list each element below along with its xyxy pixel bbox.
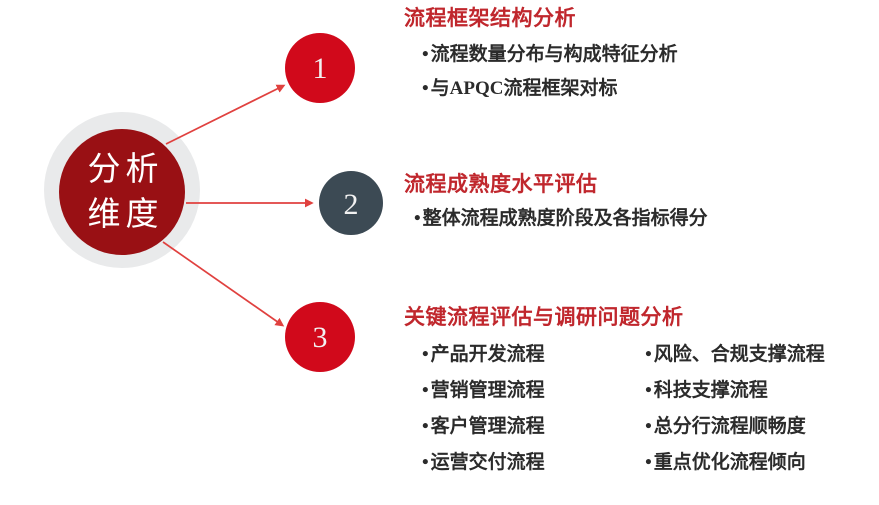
list-item: 风险、合规支撑流程 [645,337,874,373]
section-3: 关键流程评估与调研问题分析 产品开发流程 营销管理流程 客户管理流程 运营交付流… [404,303,874,481]
section-1-title: 流程框架结构分析 [404,4,874,32]
section-2-title: 流程成熟度水平评估 [404,170,874,198]
section-1-bullets: 流程数量分布与构成特征分析 与APQC流程框架对标 [422,38,874,106]
hub-circle[interactable] [59,129,185,255]
list-item: 科技支撑流程 [645,373,874,409]
section-2: 流程成熟度水平评估 整体流程成熟度阶段及各指标得分 [404,170,874,236]
node-circle-2[interactable] [319,171,383,235]
section-3-bullets-left: 产品开发流程 营销管理流程 客户管理流程 运营交付流程 [422,337,645,481]
list-item: 总分行流程顺畅度 [645,409,874,445]
list-item: 运营交付流程 [422,445,645,481]
section-2-bullets: 整体流程成熟度阶段及各指标得分 [414,202,874,236]
list-item: 整体流程成熟度阶段及各指标得分 [414,202,874,236]
connector-arrow-3 [163,242,282,325]
section-3-bullets-right: 风险、合规支撑流程 科技支撑流程 总分行流程顺畅度 重点优化流程倾向 [645,337,874,481]
diagram-slide: 分析 维度 1 2 3 流程框架结构分析 流程数量分布与构成特征分析 与APQC… [0,0,879,505]
section-1: 流程框架结构分析 流程数量分布与构成特征分析 与APQC流程框架对标 [404,4,874,106]
section-3-columns: 产品开发流程 营销管理流程 客户管理流程 运营交付流程 风险、合规支撑流程 科技… [422,337,874,481]
node-circle-3[interactable] [285,302,355,372]
connector-arrow-1 [166,86,283,144]
list-item: 流程数量分布与构成特征分析 [422,38,874,72]
list-item: 重点优化流程倾向 [645,445,874,481]
node-circle-1[interactable] [285,33,355,103]
list-item: 客户管理流程 [422,409,645,445]
section-3-title: 关键流程评估与调研问题分析 [404,303,874,331]
list-item: 与APQC流程框架对标 [422,72,874,106]
list-item: 营销管理流程 [422,373,645,409]
list-item: 产品开发流程 [422,337,645,373]
